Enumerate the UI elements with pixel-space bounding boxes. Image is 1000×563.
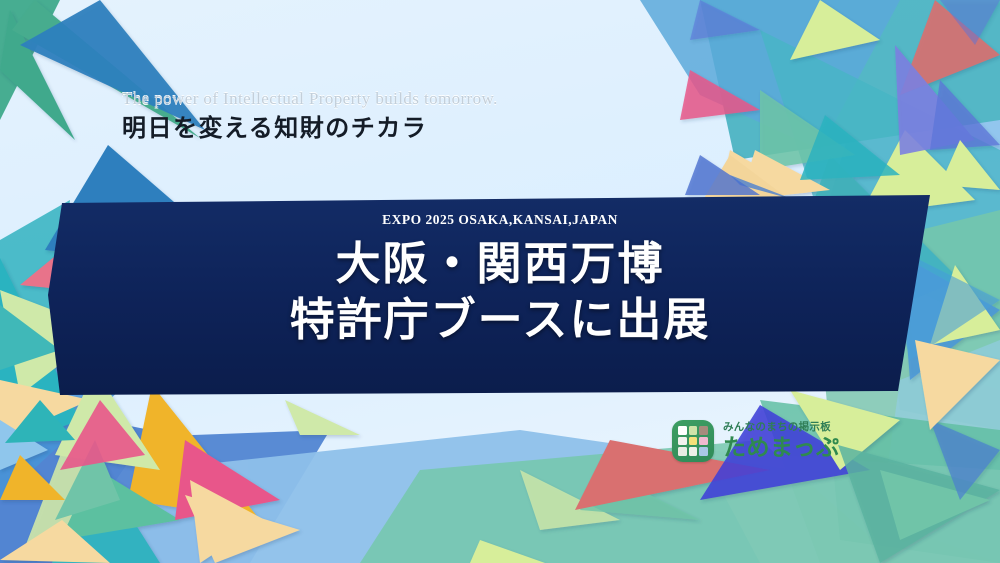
- poster-canvas: The power of Intellectual Property build…: [0, 0, 1000, 563]
- main-banner: EXPO 2025 OSAKA,KANSAI,JAPAN 大阪・関西万博 特許庁…: [0, 195, 1000, 400]
- logo-subtitle: みんなのまちの掲示板: [723, 422, 840, 433]
- tagline-english: The power of Intellectual Property build…: [122, 90, 498, 107]
- logo-tile: [678, 447, 687, 456]
- banner-shape: [0, 195, 1000, 400]
- logo-tile: [699, 426, 708, 435]
- logo-tile: [678, 437, 687, 446]
- logo-tile: [699, 437, 708, 446]
- logo-tile: [689, 426, 698, 435]
- logo-name: ためまっぷ: [723, 437, 840, 460]
- tagline-japanese: 明日を変える知財のチカラ: [122, 116, 498, 140]
- tagline-block: The power of Intellectual Property build…: [122, 90, 498, 140]
- tamemap-logo[interactable]: みんなのまちの掲示板 ためまっぷ: [672, 420, 840, 462]
- logo-tile: [678, 426, 687, 435]
- logo-tile: [689, 447, 698, 456]
- logo-tile: [699, 447, 708, 456]
- logo-tile: [689, 437, 698, 446]
- bulletin-board-grid-icon: [672, 420, 714, 462]
- logo-wordmark: みんなのまちの掲示板 ためまっぷ: [723, 422, 840, 460]
- logo-tile-grid: [678, 426, 708, 456]
